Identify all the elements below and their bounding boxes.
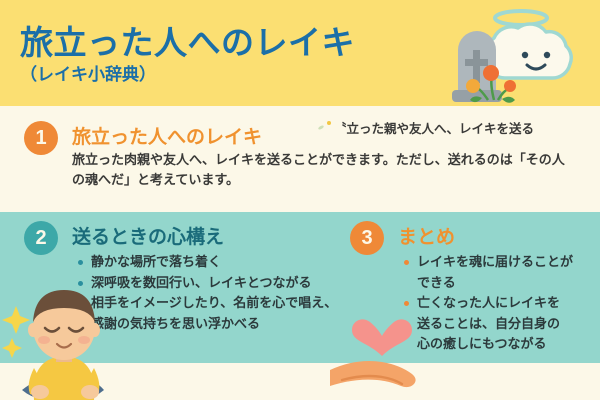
cloud-angel-icon bbox=[486, 11, 572, 78]
hand-with-heart-icon bbox=[330, 318, 440, 400]
section-3-heading: まとめ bbox=[398, 222, 455, 249]
section-1-number-badge: 1 bbox=[24, 121, 58, 155]
page-subtitle: （レイキ小辞典） bbox=[20, 60, 156, 85]
list-item: 亡くなった人にレイキを bbox=[404, 293, 573, 314]
sparkle-dot-icon bbox=[327, 121, 331, 125]
open-hand-icon bbox=[330, 361, 416, 387]
heart-icon bbox=[352, 319, 412, 356]
page-title: 旅立った人へのレイキ bbox=[20, 16, 355, 64]
header-illustration bbox=[370, 0, 600, 106]
infographic-canvas: 旅立った人へのレイキ （レイキ小辞典） 1 旅立った人へのレイキ 旅立った肉親や… bbox=[0, 0, 600, 400]
list-item: できる bbox=[404, 273, 573, 294]
section-1-heading: 旅立った人へのレイキ bbox=[72, 122, 262, 149]
overlay-text: 〝立った親や友人へ、レイキを送る bbox=[334, 118, 534, 137]
section-2-heading: 送るときの心構え bbox=[72, 222, 224, 249]
list-item: 静かな場所で落ち着く bbox=[78, 252, 337, 273]
section-3-number-badge: 3 bbox=[350, 221, 384, 255]
section-2-number-badge: 2 bbox=[24, 221, 58, 255]
section-1-body: 旅立った肉親や友人へ、レイキを送ることができます。ただし、送れるのは「その人の魂… bbox=[72, 150, 572, 190]
meditating-person-icon bbox=[0, 272, 120, 400]
sparkle-icon bbox=[2, 306, 30, 358]
list-item: レイキを魂に届けることが bbox=[404, 252, 573, 273]
